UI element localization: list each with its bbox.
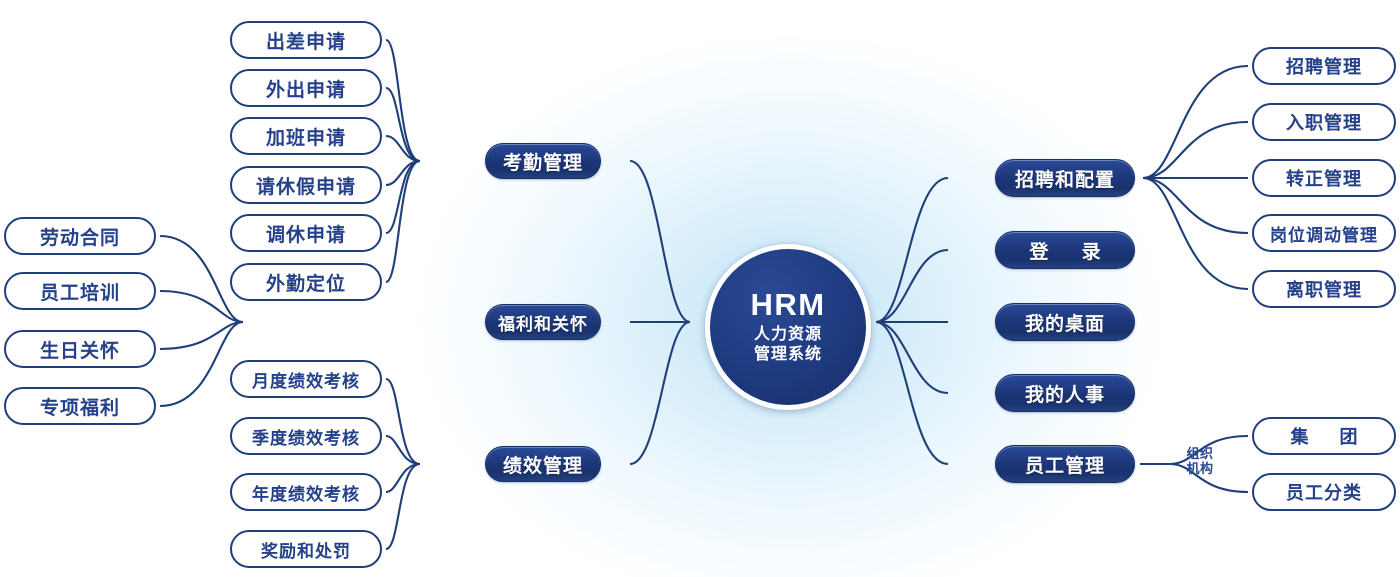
leaf-time-off-application[interactable]: 调休申请 bbox=[230, 214, 382, 252]
branch-my-personnel[interactable]: 我的人事 bbox=[995, 374, 1135, 412]
center-title: HRM bbox=[750, 289, 825, 322]
branch-welfare[interactable]: 福利和关怀 bbox=[485, 304, 601, 340]
connector-label-line2: 机构 bbox=[1180, 462, 1220, 477]
branch-login[interactable]: 登 录 bbox=[995, 231, 1135, 269]
leaf-monthly-performance-review[interactable]: 月度绩效考核 bbox=[230, 360, 382, 398]
leaf-onboarding-management[interactable]: 入职管理 bbox=[1252, 103, 1396, 141]
leaf-field-location[interactable]: 外勤定位 bbox=[230, 263, 382, 301]
leaf-position-transfer-management[interactable]: 岗位调动管理 bbox=[1252, 214, 1396, 252]
branch-attendance[interactable]: 考勤管理 bbox=[485, 143, 601, 179]
leaf-labor-contract[interactable]: 劳动合同 bbox=[4, 217, 156, 255]
leaf-special-benefits[interactable]: 专项福利 bbox=[4, 387, 156, 425]
leaf-rewards-and-penalties[interactable]: 奖励和处罚 bbox=[230, 530, 382, 568]
branch-employee-management[interactable]: 员工管理 bbox=[995, 445, 1135, 483]
leaf-employee-classification[interactable]: 员工分类 bbox=[1252, 473, 1396, 511]
leaf-birthday-care[interactable]: 生日关怀 bbox=[4, 330, 156, 368]
leaf-annual-performance-review[interactable]: 年度绩效考核 bbox=[230, 473, 382, 511]
leaf-regularization-management[interactable]: 转正管理 bbox=[1252, 159, 1396, 197]
connector-label-line1: 组织 bbox=[1180, 447, 1220, 462]
leaf-quarterly-performance-review[interactable]: 季度绩效考核 bbox=[230, 417, 382, 455]
leaf-business-trip-application[interactable]: 出差申请 bbox=[230, 21, 382, 59]
leaf-resignation-management[interactable]: 离职管理 bbox=[1252, 270, 1396, 308]
leaf-overtime-application[interactable]: 加班申请 bbox=[230, 117, 382, 155]
mindmap-canvas: HRM 人力资源 管理系统 考勤管理 福利和关怀 绩效管理 出差申请 外出申请 … bbox=[0, 0, 1400, 577]
leaf-group[interactable]: 集 团 bbox=[1252, 417, 1396, 455]
branch-recruiting[interactable]: 招聘和配置 bbox=[995, 159, 1135, 197]
connector-label-organization: 组织 机构 bbox=[1180, 447, 1220, 476]
connector-lines bbox=[0, 0, 1400, 577]
leaf-leave-application[interactable]: 请休假申请 bbox=[230, 166, 382, 204]
center-subtitle-line1: 人力资源 bbox=[754, 325, 822, 345]
branch-performance[interactable]: 绩效管理 bbox=[485, 446, 601, 482]
leaf-employee-training[interactable]: 员工培训 bbox=[4, 272, 156, 310]
center-subtitle-line2: 管理系统 bbox=[754, 345, 822, 365]
leaf-recruitment-management[interactable]: 招聘管理 bbox=[1252, 47, 1396, 85]
center-node[interactable]: HRM 人力资源 管理系统 bbox=[705, 244, 871, 410]
leaf-outing-application[interactable]: 外出申请 bbox=[230, 69, 382, 107]
branch-my-desktop[interactable]: 我的桌面 bbox=[995, 303, 1135, 341]
